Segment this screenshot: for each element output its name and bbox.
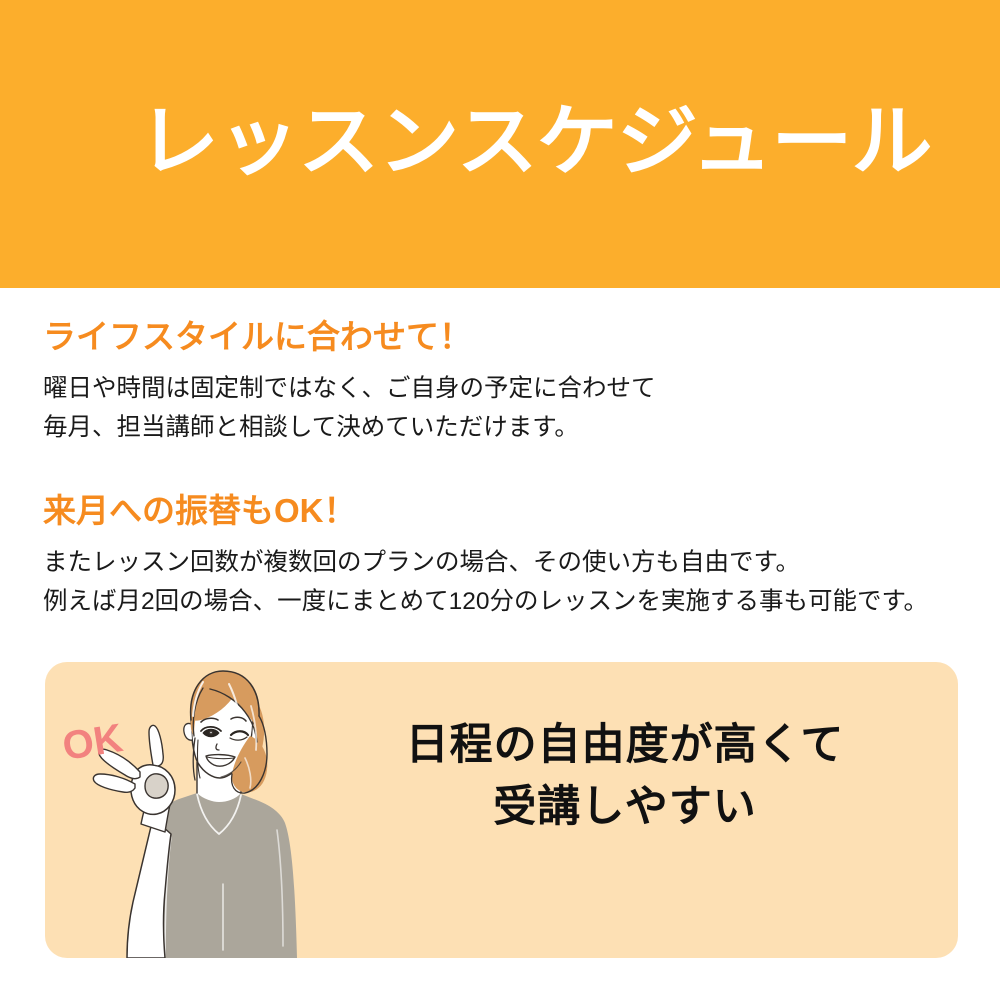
section-body-line: 例えば月2回の場合、一度にまとめて120分のレッスンを実施する事も可能です。: [43, 582, 928, 621]
page-title: レッスンスケジュール: [138, 96, 928, 186]
section-carryover: 来月への振替もOK！ またレッスン回数が複数回のプランの場合、その使い方も自由で…: [43, 492, 928, 621]
card-headline-line: 受講しやすい: [345, 776, 905, 838]
highlight-card: OK 日程の自由度が高くて 受講しやすい: [45, 662, 958, 958]
section-body-line: 毎月、担当講師と相談して決めていただけます。: [43, 408, 656, 447]
page-root: レッスンスケジュール ライフスタイルに合わせて！ 曜日や時間は固定制ではなく、ご…: [0, 0, 1000, 1000]
section-body-line: 曜日や時間は固定制ではなく、ご自身の予定に合わせて: [43, 369, 656, 408]
section-heading: 来月への振替もOK！: [43, 492, 928, 530]
card-headline: 日程の自由度が高くて 受講しやすい: [345, 714, 905, 838]
header-banner: レッスンスケジュール: [0, 0, 1000, 288]
section-body-line: またレッスン回数が複数回のプランの場合、その使い方も自由です。: [43, 543, 928, 582]
section-lifestyle: ライフスタイルに合わせて！ 曜日や時間は固定制ではなく、ご自身の予定に合わせて …: [43, 318, 656, 447]
section-heading: ライフスタイルに合わせて！: [43, 318, 656, 356]
card-headline-line: 日程の自由度が高くて: [345, 714, 905, 776]
ok-label: OK: [60, 716, 126, 769]
woman-ok-gesture-illustration: OK: [45, 662, 365, 958]
